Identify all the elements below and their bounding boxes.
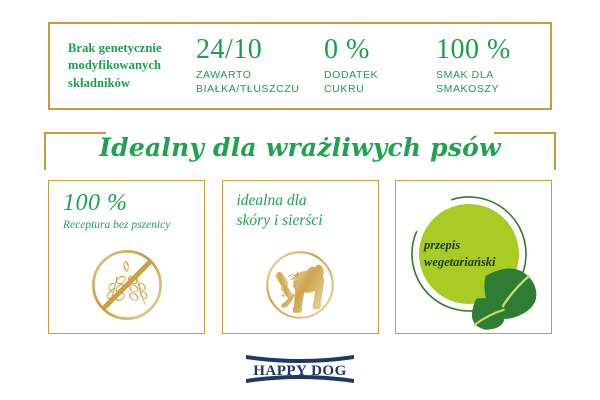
gmo-free-text: Brak genetycznie modyfikowanych składnik… (68, 40, 184, 92)
stat-label-line-1: Smak dla (436, 69, 544, 82)
stat-added-sugar: 0 % Dodatek cukru (318, 36, 430, 96)
card-vegetarian-text: przepis wegetariański (424, 237, 528, 271)
top-stats-banner: Brak genetycznie modyfikowanych składnik… (48, 22, 552, 110)
stat-value: 0 % (324, 36, 424, 64)
gmo-line-2: modyfikowanych (68, 57, 184, 74)
card-title-line-1: idealna dla (237, 191, 370, 211)
stat-value: 100 % (436, 36, 544, 64)
dog-brush-icon (223, 243, 378, 327)
infographic-page: Brak genetycznie modyfikowanych składnik… (0, 0, 600, 400)
veg-line-1: przepis (424, 237, 528, 254)
gmo-line-3: składników (68, 75, 184, 92)
stat-label-line-1: Dodatek (324, 69, 424, 82)
stat-label-line-2: cukru (324, 83, 424, 96)
stat-label: Smak dla smakoszy (436, 69, 544, 96)
gmo-line-1: Brak genetycznie (68, 40, 184, 57)
frame-rail-left (44, 156, 46, 170)
no-wheat-icon (49, 243, 204, 327)
card-title-line-2: skóry i sierści (237, 211, 370, 231)
card-wheat-free: 100 % Receptura bez pszenicy (48, 180, 205, 334)
headline-text: Idealny dla wrażliwych psów (0, 126, 600, 170)
frame-rail-right (554, 156, 556, 170)
feature-cards: 100 % Receptura bez pszenicy (48, 180, 552, 334)
card-skin-coat: idealna dla skóry i sierści (222, 180, 379, 334)
gmo-free-block: Brak genetycznie modyfikowanych składnik… (50, 40, 190, 92)
stat-label-line-1: Zawarto (196, 69, 312, 82)
headline-row: Idealny dla wrażliwych psów (0, 126, 600, 172)
stat-label-line-2: smakoszy (436, 83, 544, 96)
stat-protein-fat: 24/10 Zawarto białka/tłuszczu (190, 36, 318, 96)
card-wheat-free-text: 100 % Receptura bez pszenicy (63, 191, 196, 233)
happy-dog-logo-text: HAPPY DOG (253, 363, 347, 379)
card-skin-coat-text: idealna dla skóry i sierści (237, 191, 370, 231)
stat-value: 24/10 (196, 36, 312, 64)
card-subtitle: Receptura bez pszenicy (63, 218, 196, 232)
card-vegetarian: przepis wegetariański (395, 180, 552, 334)
card-percent: 100 % (63, 191, 196, 216)
stat-label: Zawarto białka/tłuszczu (196, 69, 312, 96)
stat-label-line-2: białka/tłuszczu (196, 83, 312, 96)
stat-taste: 100 % Smak dla smakoszy (430, 36, 550, 96)
happy-dog-logo: HAPPY DOG (0, 352, 600, 391)
veg-line-2: wegetariański (424, 254, 528, 271)
stat-label: Dodatek cukru (324, 69, 424, 96)
